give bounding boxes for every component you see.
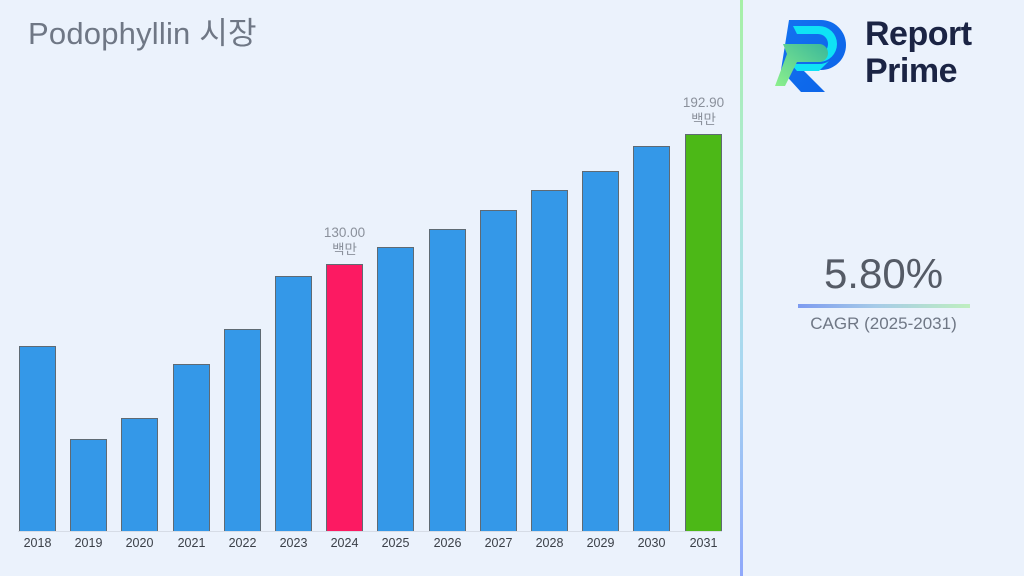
bar-value-number-2031: 192.90 <box>683 95 724 111</box>
x-axis-tick-2020: 2020 <box>121 536 158 550</box>
bar-rect-2029[interactable] <box>582 171 619 531</box>
bar-2028[interactable] <box>531 190 568 531</box>
bar-rect-2019[interactable] <box>70 439 107 531</box>
page-title: Podophyllin 시장 <box>28 8 257 53</box>
bar-rect-2031[interactable] <box>685 134 722 531</box>
bar-value-unit-2024: 백만 <box>324 242 365 258</box>
x-axis-tick-2027: 2027 <box>480 536 517 550</box>
chart-panel: Podophyllin 시장 130.00백만192.90백만 20182019… <box>0 0 740 576</box>
bar-2018[interactable] <box>19 346 56 531</box>
x-axis-line <box>18 531 722 532</box>
bar-2027[interactable] <box>480 210 517 531</box>
bar-rect-2023[interactable] <box>275 276 312 531</box>
bar-value-number-2024: 130.00 <box>324 225 365 241</box>
bar-rect-2025[interactable] <box>377 247 414 531</box>
bar-2026[interactable] <box>429 229 466 531</box>
bar-value-unit-2031: 백만 <box>683 112 724 128</box>
x-axis-tick-2030: 2030 <box>633 536 670 550</box>
bar-2029[interactable] <box>582 171 619 531</box>
bar-rect-2028[interactable] <box>531 190 568 531</box>
cagr-block: 5.80% CAGR (2025-2031) <box>743 252 1024 334</box>
x-axis-tick-2024: 2024 <box>326 536 363 550</box>
report-prime-logo: Report Prime <box>773 12 1013 94</box>
bar-rect-2024[interactable] <box>326 264 363 531</box>
x-axis-tick-2026: 2026 <box>429 536 466 550</box>
logo-line-2: Prime <box>865 53 972 90</box>
cagr-divider <box>798 304 970 308</box>
x-axis-tick-2028: 2028 <box>531 536 568 550</box>
bar-2030[interactable] <box>633 146 670 531</box>
bar-rect-2027[interactable] <box>480 210 517 531</box>
bar-chart-plot-area: 130.00백만192.90백만 <box>0 100 740 532</box>
x-axis-tick-2031: 2031 <box>685 536 722 550</box>
bar-rect-2020[interactable] <box>121 418 158 531</box>
bar-value-label-2024: 130.00백만 <box>324 225 365 258</box>
x-axis-tick-2025: 2025 <box>377 536 414 550</box>
bar-2020[interactable] <box>121 418 158 531</box>
bar-2022[interactable] <box>224 329 261 531</box>
brand-panel: Report Prime 5.80% CAGR (2025-2031) <box>743 0 1024 576</box>
x-axis-tick-2021: 2021 <box>173 536 210 550</box>
bar-rect-2021[interactable] <box>173 364 210 531</box>
x-axis-tick-2023: 2023 <box>275 536 312 550</box>
x-axis-tick-2022: 2022 <box>224 536 261 550</box>
bar-2021[interactable] <box>173 364 210 531</box>
bar-rect-2022[interactable] <box>224 329 261 531</box>
bar-2031[interactable]: 192.90백만 <box>685 134 722 531</box>
bar-rect-2030[interactable] <box>633 146 670 531</box>
bar-2019[interactable] <box>70 439 107 531</box>
x-axis-tick-2018: 2018 <box>19 536 56 550</box>
bar-2025[interactable] <box>377 247 414 531</box>
logo-line-1: Report <box>865 16 972 53</box>
cagr-value: 5.80% <box>743 252 1024 296</box>
x-axis-tick-2019: 2019 <box>70 536 107 550</box>
cagr-caption: CAGR (2025-2031) <box>743 314 1024 334</box>
report-prime-logo-mark <box>773 14 855 92</box>
x-axis-tick-2029: 2029 <box>582 536 619 550</box>
bar-2023[interactable] <box>275 276 312 531</box>
bar-rect-2018[interactable] <box>19 346 56 531</box>
bar-rect-2026[interactable] <box>429 229 466 531</box>
x-axis-tick-labels: 2018201920202021202220232024202520262027… <box>0 536 740 566</box>
logo-wordmark: Report Prime <box>865 16 972 89</box>
bar-value-label-2031: 192.90백만 <box>683 95 724 128</box>
bar-2024[interactable]: 130.00백만 <box>326 264 363 531</box>
